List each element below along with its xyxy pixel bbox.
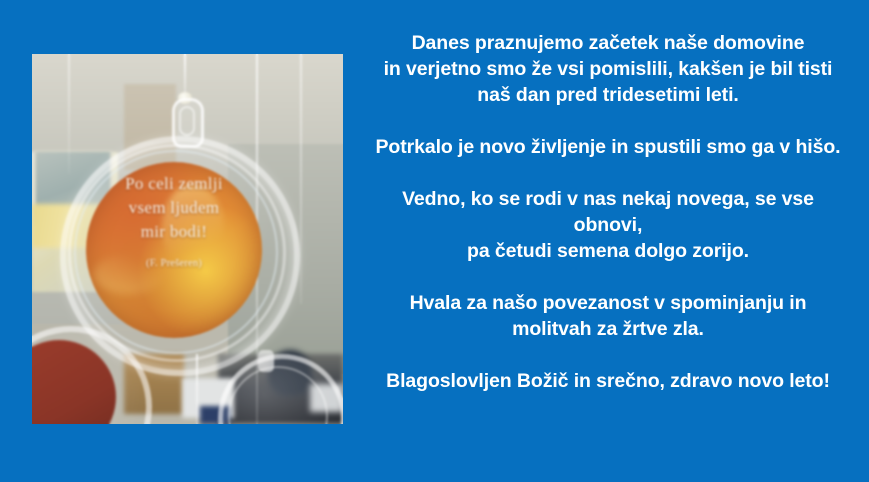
photo-background-white-object [182, 378, 234, 418]
disc-highlight-2 [94, 254, 164, 294]
photo-doorway [124, 84, 176, 170]
photo-background-furniture [124, 354, 184, 414]
hanging-string-bottom [196, 354, 198, 424]
main-ornament-shell [60, 136, 300, 376]
secondary-ornament-left [32, 326, 152, 424]
ornament-knot [178, 92, 192, 104]
photo-background-green [42, 370, 102, 394]
photo-wall [32, 174, 343, 324]
greeting-slide: Po celi zemlji vsem ljudem mir bodi! (F.… [0, 0, 869, 482]
ornament-quote-line-2: vsem ljudem [86, 196, 262, 220]
main-ornament-disc [86, 162, 262, 338]
message-paragraph-5: Blagoslovljen Božič in srečno, zdravo no… [358, 368, 858, 394]
disc-highlight [162, 184, 224, 272]
ornament-quote-line-3: mir bodi! [86, 220, 262, 244]
photo-ceiling [32, 54, 343, 184]
main-ornament-ring-2 [68, 144, 286, 362]
secondary-ornament-right-clip [258, 350, 274, 372]
photo-background-blob-light [310, 384, 343, 412]
ornament-quote-attribution: (F. Prešeren) [86, 257, 262, 272]
secondary-ornament-right-inner [228, 366, 328, 424]
greeting-message: Danes praznujemo začetek naše domovine i… [358, 30, 858, 394]
ornament-hanging-loop [172, 98, 204, 148]
message-line: pa četudi semena dolgo zorijo. [358, 238, 858, 264]
photo-wall-right [228, 144, 343, 374]
secondary-ornament-right [218, 354, 343, 424]
photo-window-light [32, 152, 118, 292]
message-paragraph-4: Hvala za našo povezanost v spominjanju i… [358, 290, 858, 342]
message-line: in verjetno smo že vsi pomislili, kakšen… [358, 56, 858, 82]
photo-window-frame [34, 150, 112, 226]
photo-background-blue-object [200, 406, 230, 424]
hanging-string-main [184, 54, 186, 96]
photo-soft-focus-overlay [32, 54, 343, 424]
message-line: molitvah za žrtve zla. [358, 316, 858, 342]
message-line: Vedno, ko se rodi v nas nekaj novega, se… [358, 186, 858, 212]
message-line: Blagoslovljen Božič in srečno, zdravo no… [358, 368, 858, 394]
photo-background-blob [268, 350, 312, 396]
ornament-quote: Po celi zemlji vsem ljudem mir bodi! (F.… [86, 172, 262, 272]
main-ornament-ring-3 [74, 150, 278, 354]
message-line: Hvala za našo povezanost v spominjanju i… [358, 290, 858, 316]
message-line: Danes praznujemo začetek naše domovine [358, 30, 858, 56]
message-paragraph-2: Potrkalo je novo življenje in spustili s… [358, 134, 858, 160]
message-line: naš dan pred tridesetimi leti. [358, 82, 858, 108]
photo-background-room [218, 354, 343, 424]
message-paragraph-3: Vedno, ko se rodi v nas nekaj novega, se… [358, 186, 858, 264]
ornament-hanging-loop-inner [179, 106, 195, 136]
ornament-quote-line-1: Po celi zemlji [86, 172, 262, 196]
hanging-string-right [256, 54, 258, 424]
photo-window-yellow-glow [32, 204, 110, 248]
message-line: obnovi, [358, 212, 858, 238]
message-line: Potrkalo je novo življenje in spustili s… [358, 134, 858, 160]
message-paragraph-1: Danes praznujemo začetek naše domovine i… [358, 30, 858, 108]
hanging-string-left [68, 54, 70, 174]
hanging-string-right-2 [300, 54, 302, 304]
secondary-ornament-left-disc [32, 340, 116, 424]
ornament-photo: Po celi zemlji vsem ljudem mir bodi! (F.… [32, 54, 343, 424]
